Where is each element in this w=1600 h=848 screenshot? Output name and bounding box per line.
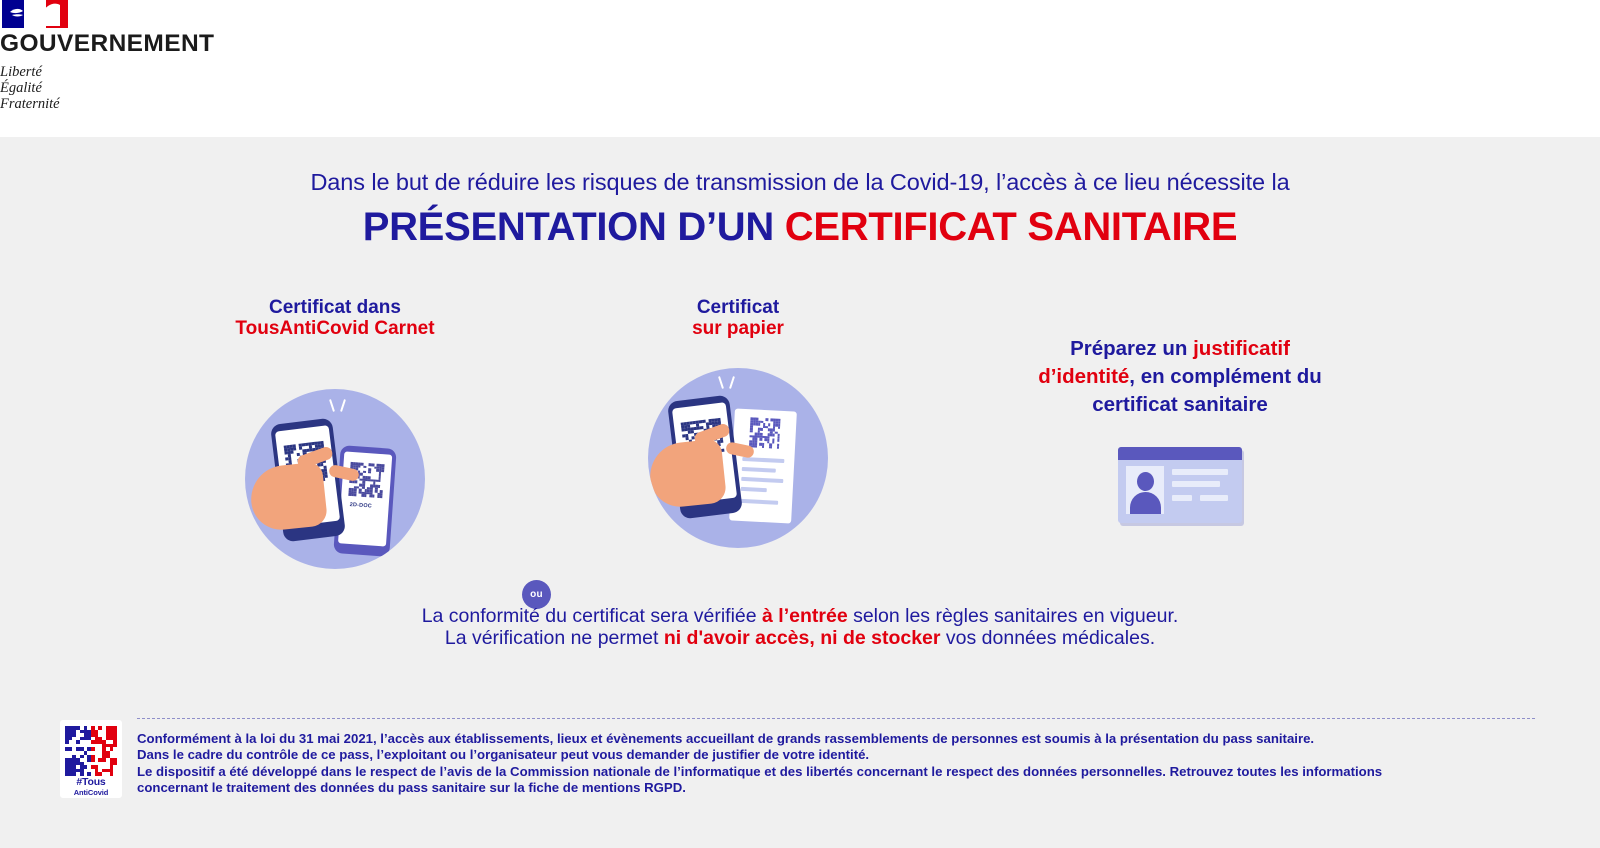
verification-statement: La conformité du certificat sera vérifié… [0, 605, 1600, 649]
spark-icon [718, 376, 724, 389]
statement-line1-part1: La conformité du certificat sera vérifié… [422, 605, 762, 627]
spark-icon [340, 399, 346, 412]
page-title: PRÉSENTATION D’UN CERTIFICAT SANITAIRE [0, 205, 1600, 250]
identity-requirement-block: Préparez un justificatif d’identité, en … [1020, 335, 1340, 523]
legal-line-4: concernant le traitement des données du … [137, 780, 1537, 796]
id-card-text-line [1172, 469, 1228, 475]
tousanticovid-badge: #Tous AntiCovid [60, 720, 122, 798]
motto-egalite: Égalité [0, 80, 230, 96]
motto-liberte: Liberté [0, 64, 230, 80]
id-card-illustration [1118, 447, 1242, 523]
republic-motto: Liberté Égalité Fraternité [0, 64, 230, 112]
statement-line1-part2: selon les règles sanitaires en vigueur. [848, 605, 1179, 627]
intro-text: Dans le but de réduire les risques de tr… [0, 169, 1600, 196]
avatar-head-icon [1137, 472, 1154, 491]
phone-purple: 2D-DOC [333, 445, 396, 557]
id-card-header-bar [1118, 447, 1242, 460]
hand-illustration [648, 438, 727, 509]
option-paper-label-red: sur papier [692, 318, 784, 339]
divider [137, 718, 1535, 719]
statement-line-2: La vérification ne permet ni d'avoir acc… [0, 627, 1600, 649]
paper-text-line [741, 477, 783, 483]
legal-footer: #Tous AntiCovid Conformément à la loi du… [0, 715, 1600, 835]
tousanticovid-label: #Tous AntiCovid [65, 778, 117, 797]
headline-red: CERTIFICAT SANITAIRE [785, 205, 1238, 249]
headline-blue: PRÉSENTATION D’UN [363, 205, 774, 249]
paper-text-line [742, 467, 776, 473]
tousanticovid-subtitle: AntiCovid [65, 788, 117, 798]
legal-line-3: Le dispositif a été développé dans le re… [137, 764, 1537, 780]
statement-line2-highlight: ni d'avoir accès, ni de stocker [664, 627, 941, 649]
option-digital-label-blue: Certificat dans [269, 297, 401, 318]
poster-content: Dans le but de réduire les risques de tr… [0, 137, 1600, 848]
spark-icon [329, 399, 335, 412]
option-digital-certificate: Certificat dans TousAntiCovid Carnet 2D-… [205, 297, 465, 569]
paper-text-line [742, 457, 784, 463]
legal-text: Conformément à la loi du 31 mai 2021, l’… [137, 731, 1537, 797]
id-card-photo [1126, 466, 1164, 514]
poster-root: GOUVERNEMENT Liberté Égalité Fraternité … [0, 0, 1600, 848]
hand-illustration [248, 461, 328, 532]
id-card-text-line [1172, 495, 1192, 501]
identity-text-part1: Préparez un [1070, 337, 1193, 360]
french-flag-marianne-icon [2, 0, 68, 28]
paper-text-line [740, 499, 778, 505]
option-digital-label-red: TousAntiCovid Carnet [235, 318, 434, 339]
phone-scanning-paper-illustration [648, 368, 828, 548]
tousanticovid-title: #Tous [76, 776, 105, 788]
phone-scanning-qr-illustration: 2D-DOC [245, 389, 425, 569]
id-card-text-line [1200, 495, 1228, 501]
avatar-body-icon [1130, 492, 1161, 514]
header-band: GOUVERNEMENT Liberté Égalité Fraternité [0, 0, 1600, 137]
tousanticovid-qr-code-icon [65, 726, 117, 776]
legal-line-2: Dans le cadre du contrôle de ce pass, l’… [137, 747, 1537, 763]
statement-line2-part1: La vérification ne permet [445, 627, 664, 649]
option-paper-certificate: Certificat sur papier [608, 297, 868, 548]
qr-code-icon [749, 417, 781, 449]
option-digital-label: Certificat dans TousAntiCovid Carnet [205, 297, 465, 339]
id-card-text-line [1172, 481, 1220, 487]
motto-fraternite: Fraternité [0, 96, 230, 112]
spark-icon [729, 376, 735, 389]
option-paper-label: Certificat sur papier [608, 297, 868, 339]
legal-line-1: Conformément à la loi du 31 mai 2021, l’… [137, 731, 1537, 747]
statement-line1-highlight: à l’entrée [762, 605, 848, 627]
marianne-logo-block: GOUVERNEMENT Liberté Égalité Fraternité [0, 0, 230, 112]
paper-text-line [741, 487, 767, 492]
statement-line2-part2: vos données médicales. [941, 627, 1156, 649]
government-title: GOUVERNEMENT [0, 32, 230, 57]
statement-line-1: La conformité du certificat sera vérifié… [0, 605, 1600, 627]
identity-text: Préparez un justificatif d’identité, en … [1020, 335, 1340, 419]
option-paper-label-blue: Certificat [697, 297, 779, 318]
